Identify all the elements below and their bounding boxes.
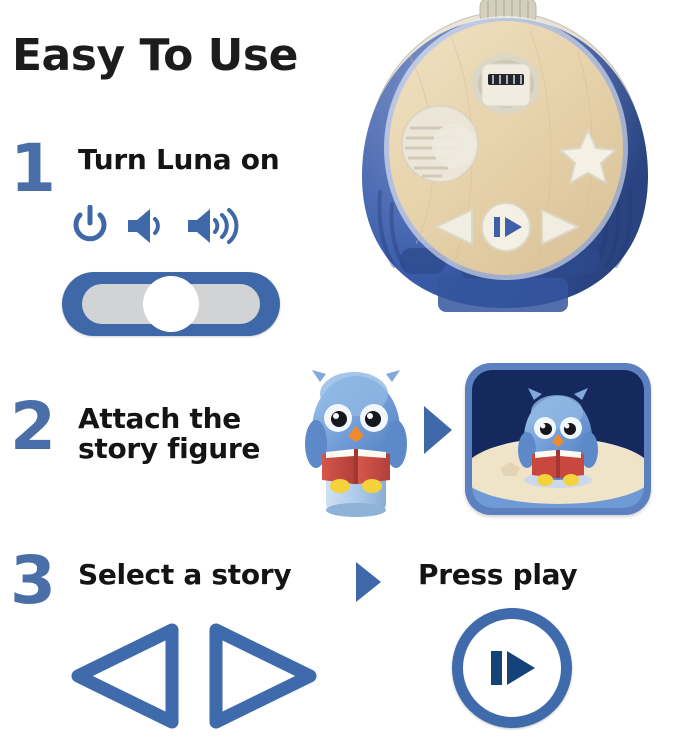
luna-device-photo: [330, 0, 679, 341]
toggle-track: [82, 284, 260, 324]
next-triangle-button[interactable]: [202, 614, 328, 743]
power-toggle-switch[interactable]: [62, 272, 280, 336]
step-2-number: 2: [10, 394, 56, 460]
step-1-number: 1: [10, 136, 56, 202]
arrow-right-icon-2: [354, 560, 384, 609]
previous-triangle-button[interactable]: [60, 614, 186, 743]
step-1-icons: [70, 205, 242, 247]
play-pause-icon: [483, 644, 541, 692]
step-3-label: Select a story: [78, 560, 291, 590]
story-nav-buttons: [60, 614, 328, 743]
speaker-grille: [402, 106, 478, 182]
inset-photo: [472, 370, 644, 508]
volume-high-icon[interactable]: [184, 205, 242, 247]
step-2-label: Attach the story figure: [78, 404, 260, 464]
open-book: [322, 449, 390, 484]
step-3-number: 3: [10, 548, 56, 614]
step-2-label-line1: Attach the: [78, 404, 260, 434]
step-1-label: Turn Luna on: [78, 145, 279, 175]
play-pause-button: [482, 203, 530, 251]
figure-connector-slot: [472, 54, 540, 114]
arrow-right-icon: [422, 404, 456, 461]
step-2-label-line2: story figure: [78, 434, 260, 464]
play-pause-button[interactable]: [452, 608, 572, 728]
step-3-label-2: Press play: [418, 560, 577, 590]
toggle-knob[interactable]: [143, 276, 199, 332]
owl-story-figure: [296, 358, 416, 518]
page-title: Easy To Use: [12, 34, 298, 78]
instruction-graphic: Easy To Use: [0, 0, 679, 753]
volume-low-icon[interactable]: [124, 205, 170, 247]
owl-attached-inset: [465, 363, 651, 515]
power-icon[interactable]: [70, 205, 110, 247]
